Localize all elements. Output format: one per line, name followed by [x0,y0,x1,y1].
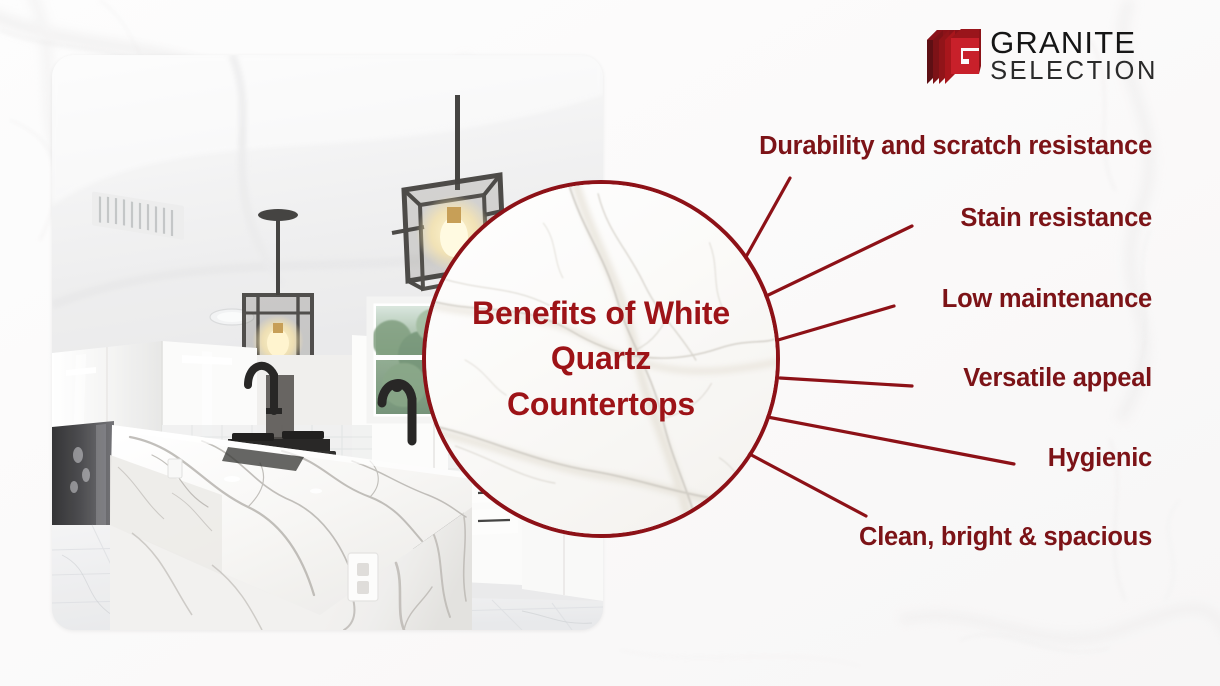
granite-g-monogram-icon [925,26,981,86]
logo-line-selection: SELECTION [990,59,1158,84]
benefit-label-low-maintenance: Low maintenance [942,285,1152,314]
hub-title-line-3: Countertops [472,382,730,427]
logo-line-granite: GRANITE [990,28,1158,58]
benefit-label-durability: Durability and scratch resistance [759,132,1152,161]
benefit-label-clean-bright-spacious: Clean, bright & spacious [859,523,1152,552]
benefit-label-versatile-appeal: Versatile appeal [963,364,1152,393]
hub-title: Benefits of White Quartz Countertops [458,291,744,427]
benefit-label-stain-resistance: Stain resistance [960,204,1152,233]
benefit-label-hygienic: Hygienic [1048,444,1152,473]
center-hub-circle: Benefits of White Quartz Countertops [422,180,780,538]
hub-title-line-2: Quartz [472,336,730,381]
hub-title-line-1: Benefits of White [472,291,730,336]
brand-logo[interactable]: GRANITE SELECTION [925,26,1158,86]
logo-wordmark: GRANITE SELECTION [990,28,1158,84]
